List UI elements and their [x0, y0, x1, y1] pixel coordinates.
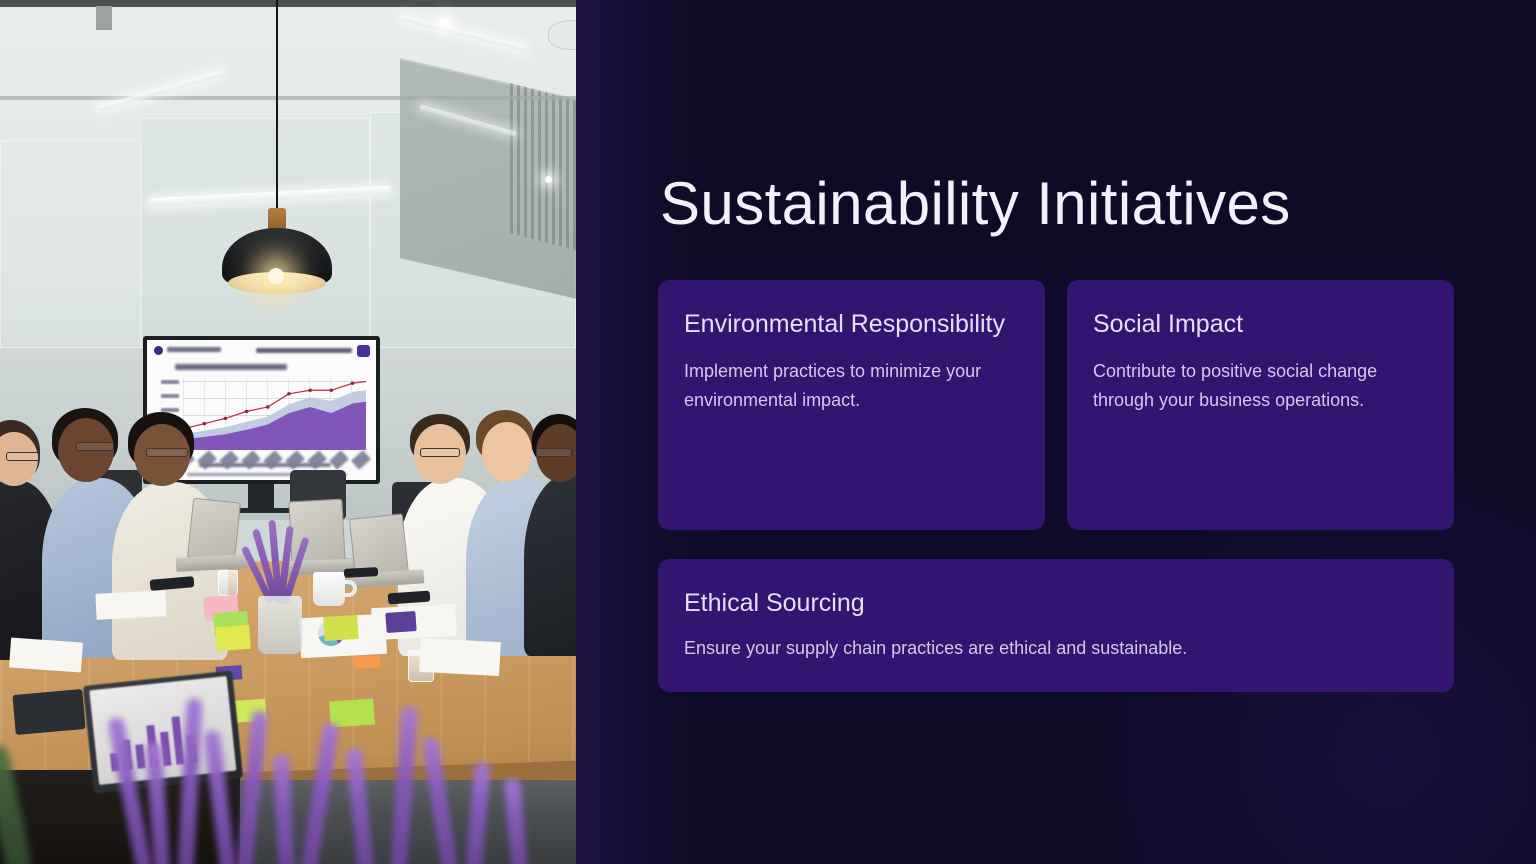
person-left-3-glasses — [146, 448, 188, 457]
flower-vase — [258, 596, 302, 654]
sticky-note-orange — [354, 655, 381, 669]
meeting-photo — [0, 0, 576, 864]
pendant-cord — [276, 0, 278, 212]
slide-legend — [256, 348, 352, 353]
water-glass-1 — [218, 570, 238, 596]
ceiling-grate — [510, 83, 576, 257]
sticky-note-lime — [323, 615, 359, 641]
slide-content: Sustainability Initiatives Environmental… — [576, 0, 1536, 864]
card-description: Ensure your supply chain practices are e… — [684, 634, 1428, 663]
document-1 — [95, 590, 166, 620]
screen-stand — [248, 484, 274, 510]
slide-header-text — [167, 347, 221, 352]
person-right-2-head — [482, 422, 532, 482]
ceiling-spotlight-1 — [440, 18, 450, 28]
foreground-notebook — [12, 689, 85, 735]
person-right-3-glasses — [536, 448, 572, 457]
slide-chart-title — [175, 364, 287, 370]
card-ethical-sourcing[interactable]: Ethical Sourcing Ensure your supply chai… — [658, 559, 1454, 692]
ceiling-spotlight-2 — [545, 176, 552, 183]
slide-badge-icon — [357, 345, 370, 357]
document-5 — [9, 638, 83, 673]
slide-chart-footnote — [199, 463, 331, 467]
sticky-note-yellow — [215, 625, 251, 651]
ceiling-rail — [0, 96, 576, 100]
slide-chart-x-label — [329, 450, 349, 470]
slide-chart-plot — [183, 378, 366, 450]
chart-printout — [385, 611, 416, 633]
laptop-1-lid — [187, 498, 241, 563]
pendant-bulb — [268, 268, 284, 284]
card-title: Environmental Responsibility — [684, 308, 1019, 341]
slide-chart-x-label — [351, 450, 371, 470]
card-title: Ethical Sourcing — [684, 587, 1428, 620]
person-left-2-glasses — [76, 442, 114, 451]
ceiling-bracket — [96, 6, 112, 30]
person-left-1-glasses — [6, 452, 40, 461]
cards-container: Environmental Responsibility Implement p… — [658, 280, 1454, 692]
person-right-1-glasses — [420, 448, 460, 457]
sticky-note-green-2 — [329, 698, 375, 727]
phone-3 — [344, 567, 378, 578]
cards-top-row: Environmental Responsibility Implement p… — [658, 280, 1454, 530]
slide-chart-series — [183, 378, 366, 450]
card-social-impact[interactable]: Social Impact Contribute to positive soc… — [1067, 280, 1454, 530]
glass-partition-left — [0, 140, 142, 348]
coffee-mug — [313, 572, 345, 606]
card-title: Social Impact — [1093, 308, 1428, 341]
document-4 — [419, 638, 501, 676]
card-description: Contribute to positive social change thr… — [1093, 357, 1428, 415]
ceiling-beam-top — [0, 0, 576, 7]
slide-logo-icon — [154, 346, 163, 355]
card-description: Implement practices to minimize your env… — [684, 357, 1019, 415]
card-environmental-responsibility[interactable]: Environmental Responsibility Implement p… — [658, 280, 1045, 530]
page-title: Sustainability Initiatives — [660, 169, 1291, 238]
presentation-slide: Sustainability Initiatives Environmental… — [0, 0, 1536, 864]
